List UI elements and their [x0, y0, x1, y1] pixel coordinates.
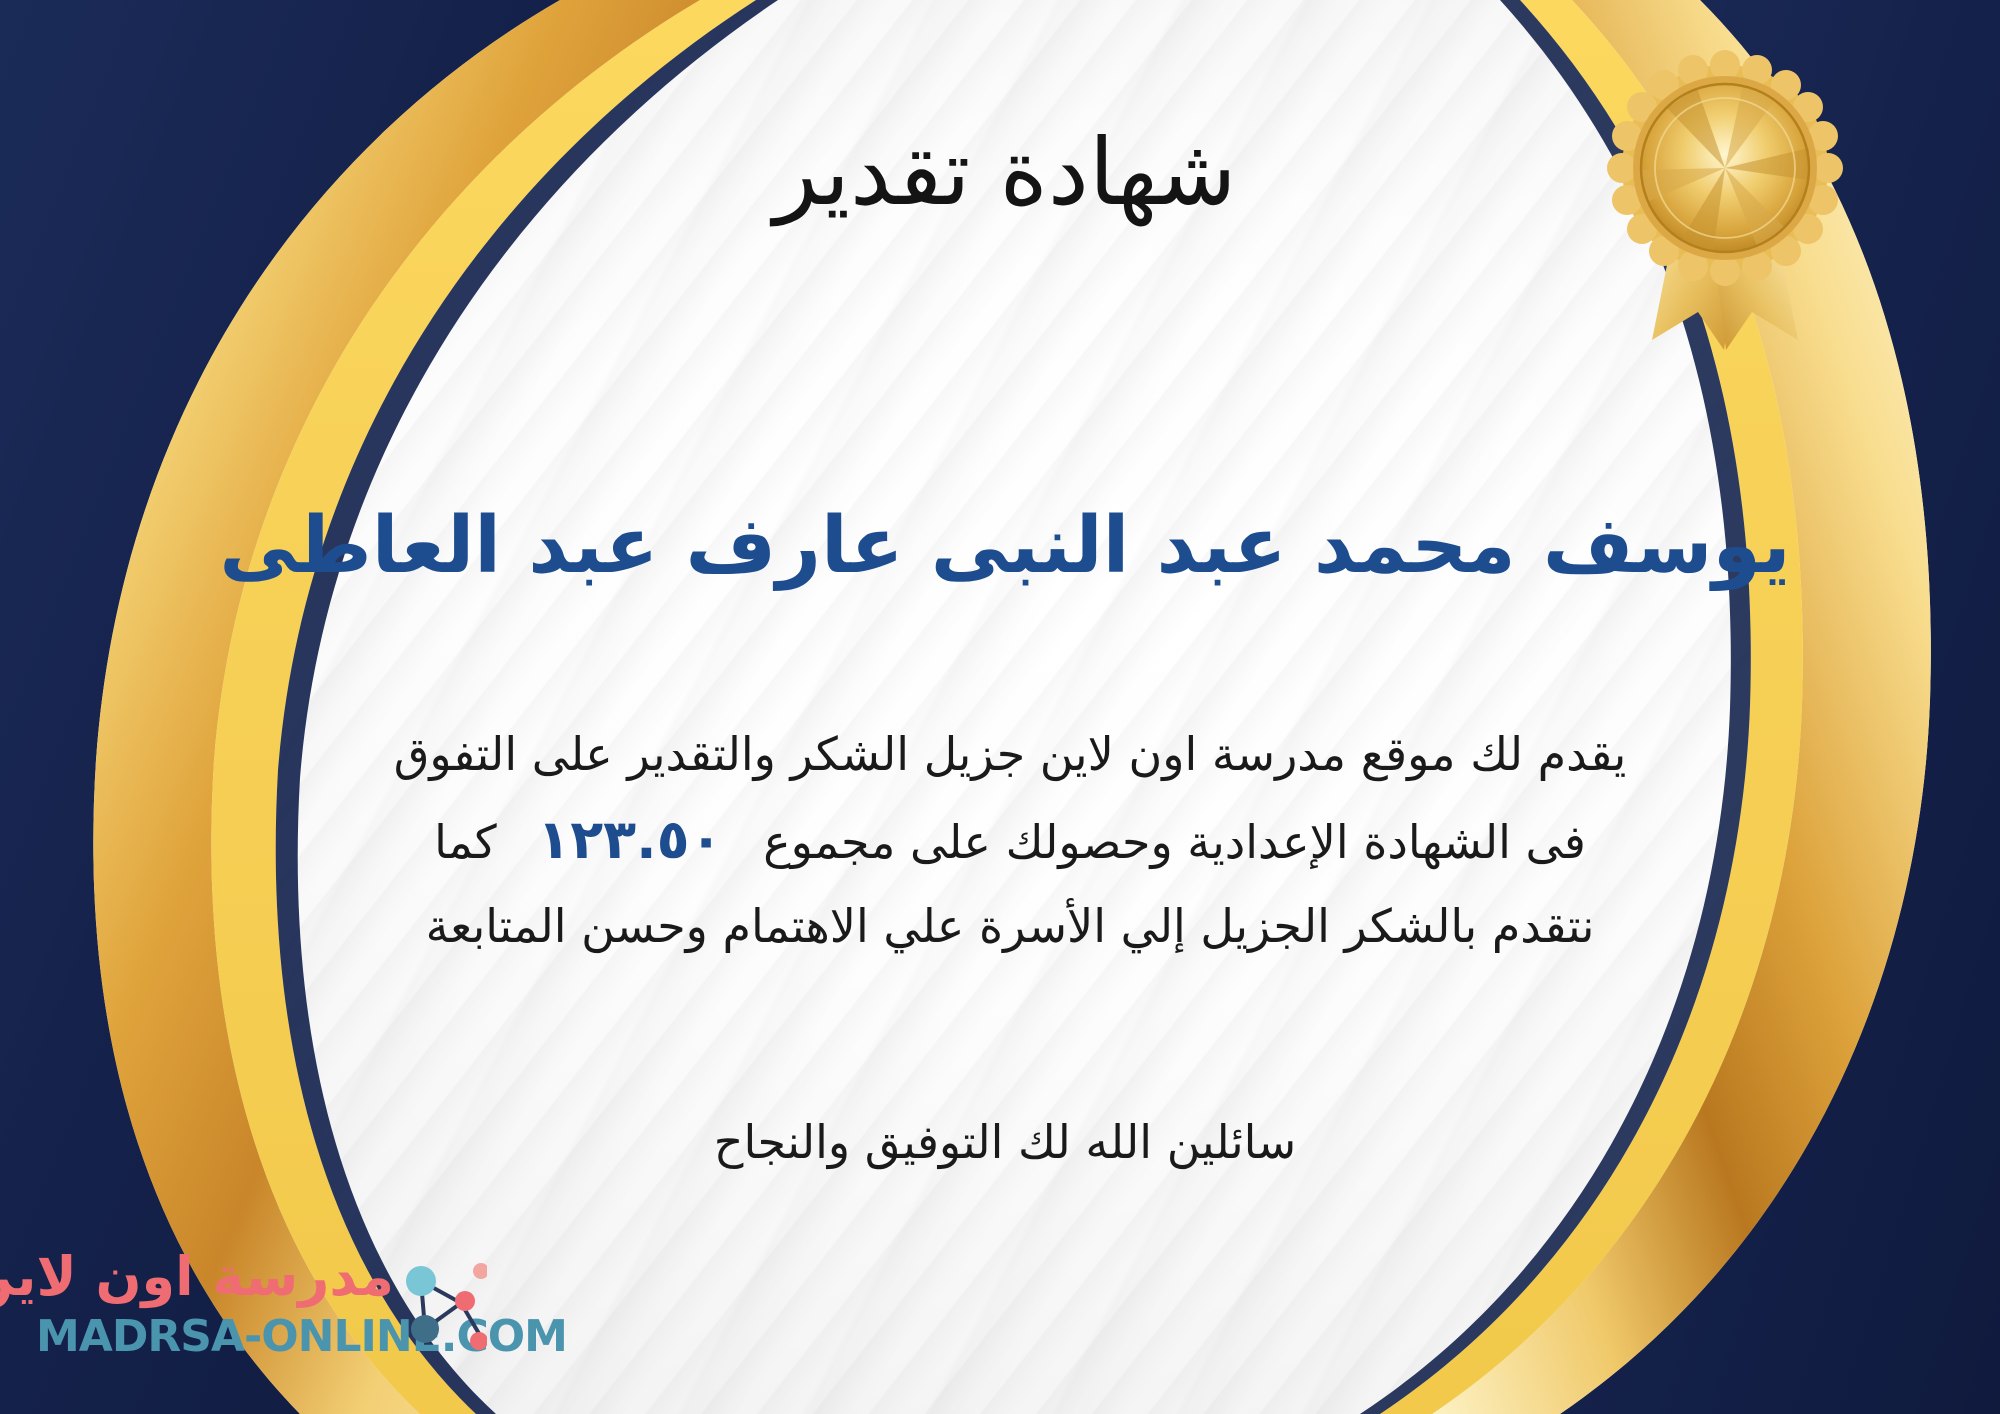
student-name: يوسف محمد عبد النبى عارف عبد العاطى: [110, 500, 1900, 594]
body-line-2: فى الشهادة الإعدادية وحصولك على مجموع ١٢…: [200, 794, 1820, 887]
body-line-1: يقدم لك موقع مدرسة اون لاين جزيل الشكر و…: [200, 715, 1820, 794]
logo-domain-text: MADRSA-ONLINE.COM: [36, 1311, 396, 1362]
certificate-body: يقدم لك موقع مدرسة اون لاين جزيل الشكر و…: [200, 715, 1820, 966]
certificate-content: شهادة تقدير يوسف محمد عبد النبى عارف عبد…: [110, 0, 1900, 1414]
certificate-canvas: شهادة تقدير يوسف محمد عبد النبى عارف عبد…: [0, 0, 2000, 1414]
grade-total: ١٢٣.٥٠: [511, 808, 748, 871]
page-title: شهادة تقدير: [110, 120, 1900, 226]
body-line-2-after: كما: [434, 815, 497, 869]
body-line-2-before: فى الشهادة الإعدادية وحصولك على مجموع: [763, 815, 1586, 869]
site-logo[interactable]: مدرسة اون لاين MADRSA-ONLINE.COM: [30, 1245, 470, 1385]
network-nodes-icon: [395, 1251, 487, 1361]
body-line-3: نتقدم بالشكر الجزيل إلي الأسرة علي الاهت…: [200, 887, 1820, 966]
logo-arabic-text: مدرسة اون لاين: [44, 1245, 394, 1308]
closing-wish: سائلين الله لك التوفيق والنجاح: [110, 1115, 1900, 1169]
